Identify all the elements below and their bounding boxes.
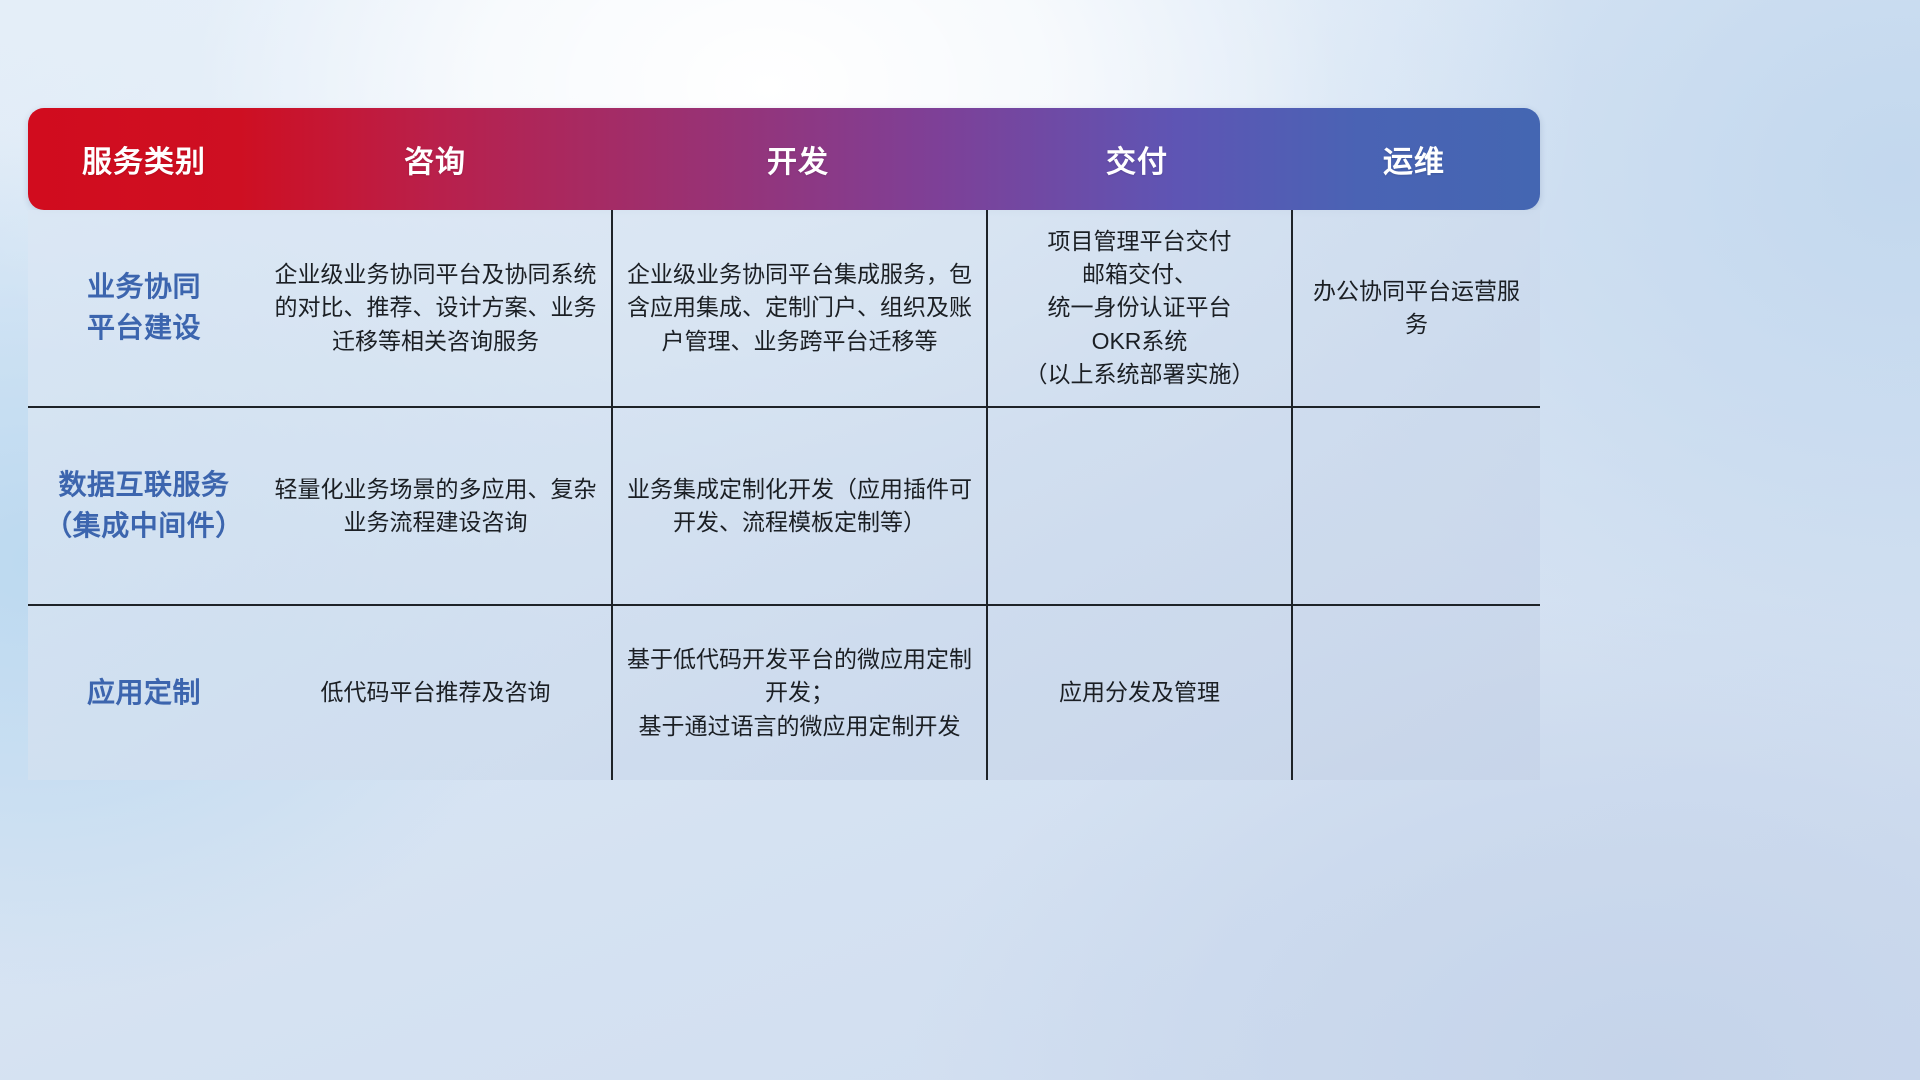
table-header-row: 服务类别 咨询 开发 交付 运维 (28, 108, 1540, 210)
cell-development-row2: 业务集成定制化开发（应用插件可开发、流程模板定制等） (611, 408, 986, 604)
cell-consulting-row2: 轻量化业务场景的多应用、复杂业务流程建设咨询 (260, 408, 611, 604)
cell-operations-row3 (1291, 606, 1540, 780)
cell-delivery-row2 (986, 408, 1291, 604)
column-header-category: 服务类别 (28, 108, 260, 210)
cell-operations-row2 (1291, 408, 1540, 604)
cell-development-row1: 企业级业务协同平台集成服务，包含应用集成、定制门户、组织及账户管理、业务跨平台迁… (611, 210, 986, 406)
cell-consulting-row1: 企业级业务协同平台及协同系统的对比、推荐、设计方案、业务迁移等相关咨询服务 (260, 210, 611, 406)
column-header-consulting: 咨询 (260, 108, 610, 210)
table-row: 数据互联服务 （集成中间件） 轻量化业务场景的多应用、复杂业务流程建设咨询 业务… (28, 406, 1540, 604)
cell-development-row3: 基于低代码开发平台的微应用定制开发； 基于通过语言的微应用定制开发 (611, 606, 986, 780)
table-row: 业务协同 平台建设 企业级业务协同平台及协同系统的对比、推荐、设计方案、业务迁移… (28, 210, 1540, 406)
column-header-operations: 运维 (1288, 108, 1540, 210)
row-label-data-interconnect: 数据互联服务 （集成中间件） (28, 408, 260, 604)
column-header-development: 开发 (610, 108, 986, 210)
cell-delivery-row1: 项目管理平台交付 邮箱交付、 统一身份认证平台 OKR系统 （以上系统部署实施） (986, 210, 1291, 406)
cell-consulting-row3: 低代码平台推荐及咨询 (260, 606, 611, 780)
cell-delivery-row3: 应用分发及管理 (986, 606, 1291, 780)
table-row: 应用定制 低代码平台推荐及咨询 基于低代码开发平台的微应用定制开发； 基于通过语… (28, 604, 1540, 780)
column-header-delivery: 交付 (986, 108, 1288, 210)
table-body: 业务协同 平台建设 企业级业务协同平台及协同系统的对比、推荐、设计方案、业务迁移… (28, 210, 1540, 780)
row-label-business-collaboration: 业务协同 平台建设 (28, 210, 260, 406)
slide-canvas: 服务类别 咨询 开发 交付 运维 业务协同 平台建设 企业级业务协同平台及协同系… (0, 0, 1920, 1080)
service-matrix-table: 服务类别 咨询 开发 交付 运维 业务协同 平台建设 企业级业务协同平台及协同系… (28, 108, 1540, 780)
cell-operations-row1: 办公协同平台运营服务 (1291, 210, 1540, 406)
row-label-app-customization: 应用定制 (28, 606, 260, 780)
